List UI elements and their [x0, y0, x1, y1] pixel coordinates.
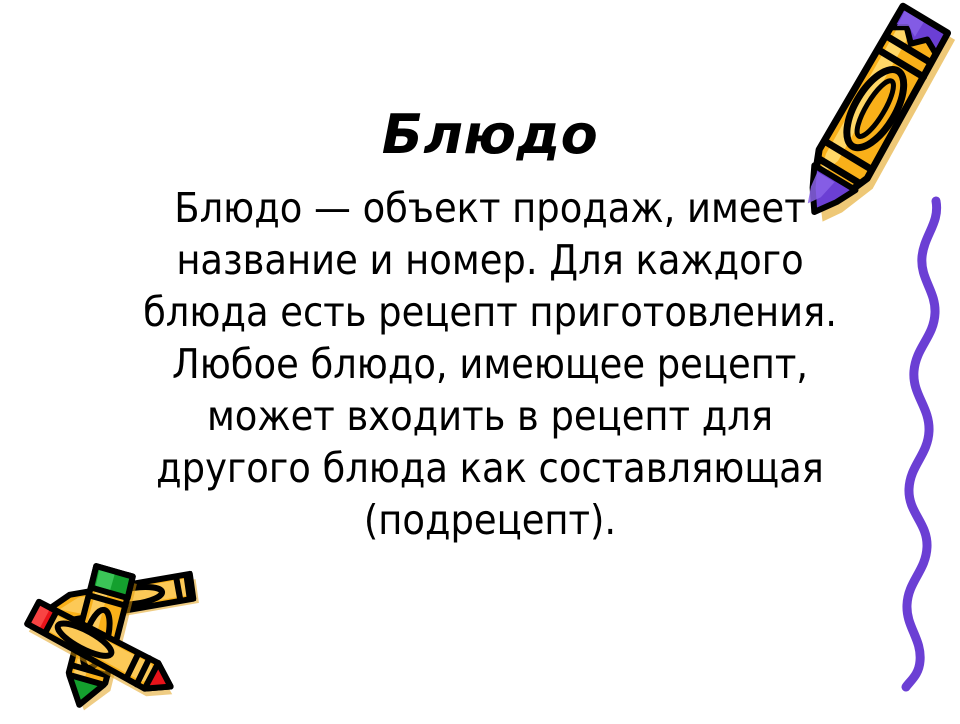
crayon-trio-icon [4, 556, 244, 720]
body-line: Любое блюдо, имеющее рецепт, [110, 338, 870, 390]
purple-squiggle-line [880, 195, 960, 695]
page-title: Блюдо [110, 104, 870, 166]
slide-text-block: Блюдо Блюдо — объект продаж, имеет назва… [110, 104, 870, 546]
body-line: может входить в рецепт для [110, 390, 870, 442]
body-line: (подрецепт). [110, 494, 870, 546]
slide-body-text: Блюдо — объект продаж, имеет название и … [110, 182, 870, 546]
slide-canvas: Блюдо Блюдо — объект продаж, имеет назва… [0, 0, 960, 720]
body-line: блюда есть рецепт приготовления. [110, 286, 870, 338]
body-line: Блюдо — объект продаж, имеет [110, 182, 870, 234]
body-line: другого блюда как составляющая [110, 442, 870, 494]
body-line: название и номер. Для каждого [110, 234, 870, 286]
